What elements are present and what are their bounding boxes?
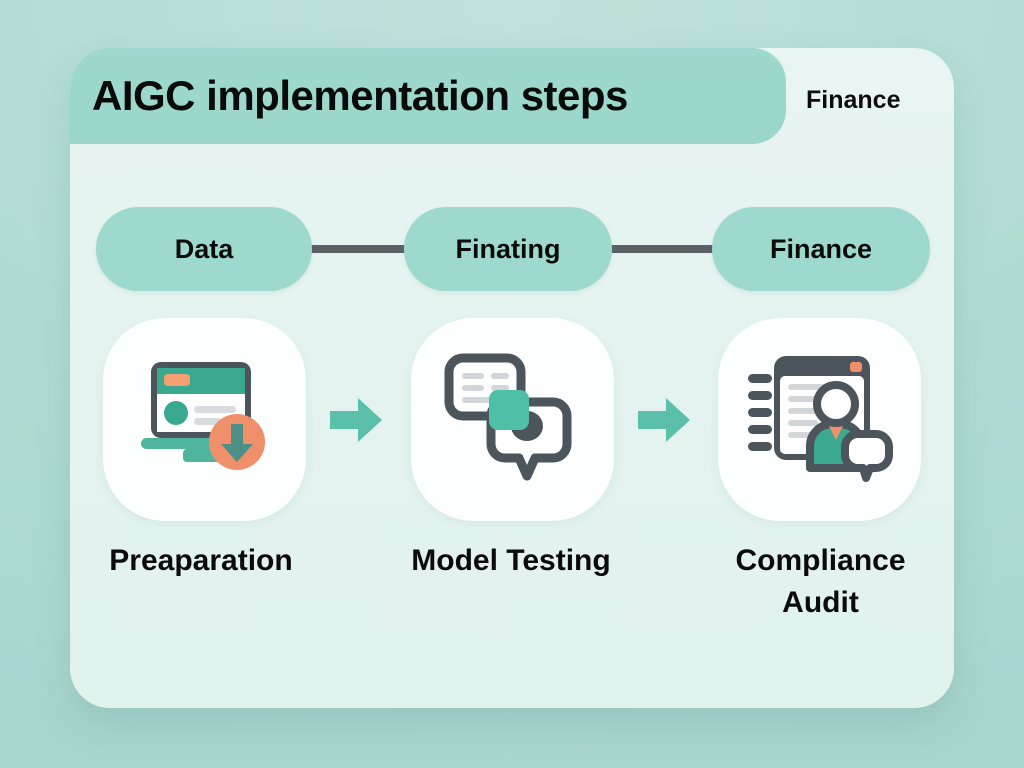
domain-tag-label: Finance xyxy=(806,86,900,115)
step-tile-2[interactable] xyxy=(411,318,614,521)
flow-pill-finating[interactable]: Finating xyxy=(404,207,612,291)
page-title: AIGC implementation steps xyxy=(92,72,628,120)
step-caption-3: Compliance Audit xyxy=(708,540,933,624)
flow-pill-finance[interactable]: Finance xyxy=(712,207,930,291)
flow-pill-data[interactable]: Data xyxy=(96,207,312,291)
step-tile-1[interactable] xyxy=(103,318,306,521)
laptop-download-icon xyxy=(131,346,279,494)
poster-canvas: AIGC implementation steps Finance Data F… xyxy=(0,0,1024,768)
caption-line: Compliance xyxy=(708,540,933,582)
caption-line: Model Testing xyxy=(396,540,626,582)
step-caption-row: Preaparation Model Testing Compliance Au… xyxy=(96,540,930,650)
step-tile-3[interactable] xyxy=(718,318,921,521)
step-caption-1: Preaparation xyxy=(91,540,311,582)
step-arrow-2 xyxy=(636,394,692,446)
flow-pill-label: Data xyxy=(175,234,234,265)
caption-line: Preaparation xyxy=(91,540,311,582)
chat-bubbles-document-icon xyxy=(439,346,587,494)
connector-1 xyxy=(308,245,410,253)
header-banner: AIGC implementation steps xyxy=(70,48,786,144)
step-icon-row xyxy=(96,318,930,523)
flow-pill-label: Finance xyxy=(770,234,872,265)
caption-line: Audit xyxy=(708,582,933,624)
flow-pill-label: Finating xyxy=(456,234,561,265)
step-arrow-1 xyxy=(328,394,384,446)
step-caption-2: Model Testing xyxy=(396,540,626,582)
connector-2 xyxy=(608,245,718,253)
flow-pill-row: Data Finating Finance xyxy=(96,207,930,291)
document-person-review-icon xyxy=(746,346,894,494)
